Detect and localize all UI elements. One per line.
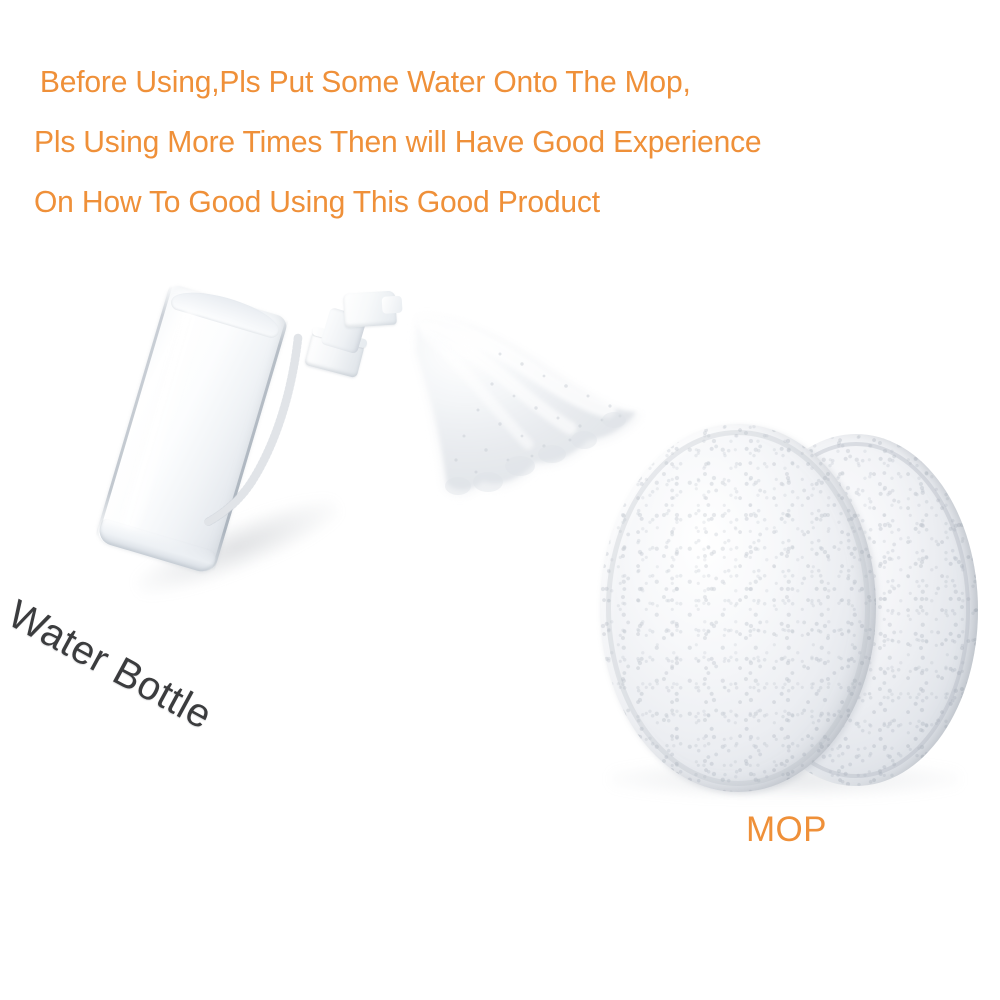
instruction-line-2: Pls Using More Times Then will Have Good…: [34, 112, 960, 172]
sprayer-tip: [382, 296, 403, 314]
instruction-line-1: Before Using,Pls Put Some Water Onto The…: [34, 52, 960, 112]
water-bottle-label: Water Bottle: [1, 592, 220, 739]
mop-pad-front-rim: [606, 430, 870, 786]
instruction-headline: Before Using,Pls Put Some Water Onto The…: [34, 52, 974, 232]
mop-product-image: [586, 408, 982, 808]
product-instruction-infographic: Before Using,Pls Put Some Water Onto The…: [0, 0, 1000, 1000]
mop-label: MOP: [746, 810, 827, 850]
instruction-line-3: On How To Good Using This Good Product: [34, 172, 960, 232]
sprayer-pump-head: [296, 276, 415, 395]
water-bottle-product-image: [150, 272, 420, 592]
